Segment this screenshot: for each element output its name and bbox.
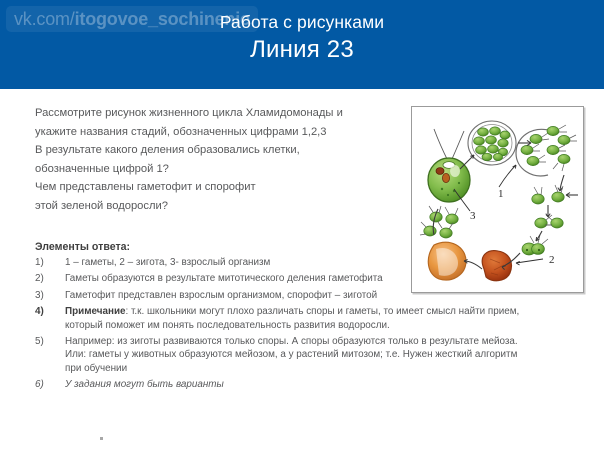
list-item-line: при обучении <box>65 362 585 375</box>
list-item-text: У задания могут быть варианты <box>65 378 585 391</box>
header-subtitle: Работа с рисунками <box>0 11 604 33</box>
list-item-line: : т.к. школьники могут плохо различать с… <box>126 306 520 317</box>
list-item-line: Например: из зиготы развиваются только с… <box>65 335 585 348</box>
list-item-marker: 2) <box>35 272 59 285</box>
question-line: Чем представлены гаметофит и спорофит <box>35 178 405 197</box>
diagram-label-1: 1 <box>498 188 504 200</box>
zygote-cell <box>482 251 511 281</box>
question-line: В результате какого деления образовались… <box>35 141 405 160</box>
list-item-line: Или: гаметы у животных образуются мейозо… <box>65 348 585 361</box>
chlamydomonas-life-cycle-image: 1 2 3 <box>411 106 584 293</box>
list-item: 6) У задания могут быть варианты <box>35 378 585 391</box>
diagram-label-3: 3 <box>470 210 476 222</box>
slide-canvas: Работа с рисунками Линия 23 vk.com/itogo… <box>0 0 604 453</box>
list-item-marker: 1) <box>35 256 59 269</box>
page-title: Линия 23 <box>0 35 604 65</box>
list-item-line: который поможет им понять последовательн… <box>65 319 585 332</box>
question-line: обозначенные цифрой 1? <box>35 160 405 179</box>
list-item-marker: 4) <box>35 305 59 318</box>
question-line: укажите названия стадий, обозначенных ци… <box>35 123 405 142</box>
list-item: 5) Например: из зиготы развиваются тольк… <box>35 335 585 375</box>
diagram-label-2: 2 <box>549 254 555 266</box>
question-line: Рассмотрите рисунок жизненного цикла Хла… <box>35 104 405 123</box>
list-item-text: Например: из зиготы развиваются только с… <box>65 335 585 375</box>
life-cycle-diagram: 1 2 3 <box>412 107 583 292</box>
list-item-marker: 5) <box>35 335 59 348</box>
list-item: 4) Примечание: т.к. школьники могут плох… <box>35 305 585 332</box>
question-line: этой зеленой водоросли? <box>35 197 405 216</box>
list-item-marker: 6) <box>35 378 59 391</box>
header-titles: Работа с рисунками Линия 23 <box>0 0 604 65</box>
note-label: Примечание <box>65 306 126 317</box>
answer-elements-heading: Элементы ответа: <box>35 240 130 254</box>
question-text: Рассмотрите рисунок жизненного цикла Хла… <box>35 104 405 216</box>
list-item-marker: 3) <box>35 289 59 302</box>
slide-header: Работа с рисунками Линия 23 vk.com/itogo… <box>0 0 604 89</box>
stray-artifact-dot <box>100 437 103 440</box>
list-item-text: Примечание: т.к. школьники могут плохо р… <box>65 305 585 332</box>
